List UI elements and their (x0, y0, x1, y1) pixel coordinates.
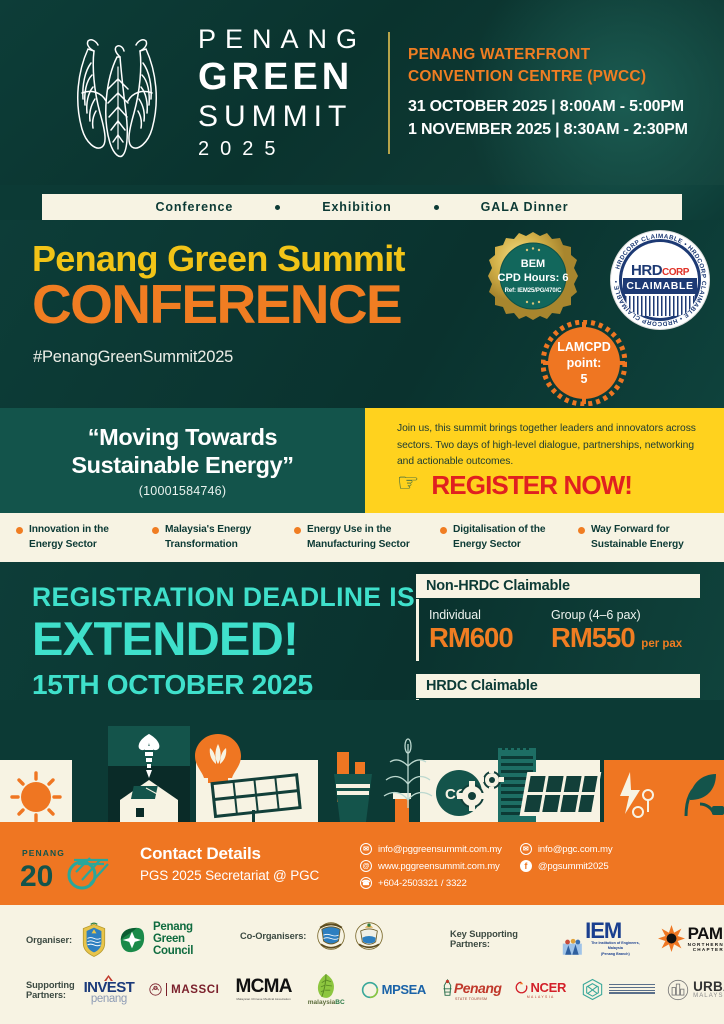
pricing-group: Group (4–6 pax) RM550 per pax (551, 608, 682, 661)
lamcpd-point-value: 5 (581, 371, 588, 387)
iem-sub-2: (Penang Branch) (585, 952, 645, 957)
venue-line-1: PENANG WATERFRONT (408, 44, 688, 66)
hrd-claimable-label: CLAIMABLE (623, 278, 697, 294)
contact-facebook-text: @pgsummit2025 (538, 861, 609, 872)
coorganisers-group: Co-Organisers: (240, 921, 384, 951)
theme-quote-line-2: Sustainable Energy” (71, 451, 293, 479)
topic-line-2: Energy Sector (29, 539, 97, 550)
contact-website[interactable]: @ www.pggreensummit.com.my (360, 860, 502, 872)
topic-line-1: Malaysia's Energy (165, 524, 251, 535)
penang-green-council-logo (118, 926, 146, 954)
topics-bar: Innovation in theEnergy Sector Malaysia'… (0, 513, 724, 562)
deadline-extended: EXTENDED! (32, 614, 415, 663)
hrd-wordmark: HRDCORP (610, 262, 710, 279)
contact-column-left: ✉ info@pggreensummit.com.my @ www.pggree… (360, 843, 502, 894)
contact-bar: PENANG 20 Contact Details PGS 2025 Secre… (0, 830, 724, 905)
mbpp-crest-logo (316, 921, 346, 951)
iem-sub-1: The Institution of Engineers, Malaysia (585, 941, 645, 952)
lamcpd-badge: LAMCPD point: 5 (541, 320, 627, 406)
massci-wordmark: MASSCI (171, 984, 219, 996)
sun-icon (12, 773, 60, 821)
pam-sub-2: CHAPTER (688, 947, 724, 952)
pricing-group-suffix: per pax (641, 638, 682, 650)
urbanice-logo: URBANICE MALAYSIA (667, 979, 724, 1001)
pricing-card-non-hrdc: Non-HRDC Claimable Individual RM600 Grou… (416, 574, 700, 661)
penang-state-crest-logo (80, 921, 108, 959)
event-poster: PENANG GREEN SUMMIT 2025 PENANG WATERFRO… (0, 0, 724, 1024)
hrd-stripes (625, 296, 695, 316)
ncer-logo: NCER MALAYSIA (515, 980, 566, 999)
program-item-exhibition: Exhibition (322, 200, 391, 214)
event-date-1: 31 OCTOBER 2025 | 8:00AM - 5:00PM (408, 95, 688, 118)
website-icon: @ (360, 860, 372, 872)
key-supporting-group: Key Supporting Partners: IEM The Institu… (450, 921, 724, 957)
urbanice-sub: MALAYSIA (693, 993, 724, 999)
hrd-text: HRD (631, 262, 662, 279)
iem-wordmark: IEM (585, 921, 645, 941)
pricing-individual-value: RM600 (429, 622, 551, 654)
brand-line-green: GREEN (198, 57, 366, 99)
supporting-partners-group: Supporting Partners: INVEST penang MASSC… (26, 973, 724, 1006)
brand-line-summit: SUMMIT (198, 99, 366, 136)
pricing-card-title: Non-HRDC Claimable (416, 574, 700, 598)
topic-line-1: Way Forward for (591, 524, 670, 535)
urbanice-wordmark: URBANICE (693, 980, 724, 994)
penang-2030-logo: PENANG 20 (20, 842, 130, 890)
brand-line-penang: PENANG (198, 23, 366, 57)
penang-tourism-sub: STATE TOURISM (455, 997, 487, 1001)
coorganisers-label: Co-Organisers: (240, 931, 306, 941)
contact-email-text: info@pgc.com.my (538, 844, 613, 855)
email-icon: ✉ (360, 843, 372, 855)
contact-columns: ✉ info@pggreensummit.com.my @ www.pggree… (360, 843, 613, 894)
topic-item: Way Forward forSustainable Energy (578, 523, 703, 553)
penang-tourism-wordmark: Penang (454, 980, 502, 996)
gbc-text: BC (335, 999, 344, 1006)
register-now-label: REGISTER NOW! (431, 470, 632, 501)
separator-dot (434, 205, 439, 210)
bem-cpd-hours: CPD Hours: 6 (498, 272, 569, 286)
partners-section: Organiser: (0, 905, 724, 1024)
pointing-hand-icon: ☞ (397, 471, 419, 496)
bullet-icon (152, 527, 159, 534)
separator-dot (275, 205, 280, 210)
pricing-group-value: RM550 (551, 622, 635, 653)
penang-2030-year-text: 20 (20, 860, 53, 890)
massci-logo: MASSCI (149, 983, 219, 996)
bem-label: BEM (521, 258, 545, 272)
brand-wordmark: PENANG GREEN SUMMIT 2025 (198, 23, 366, 161)
facebook-icon: f (520, 860, 532, 872)
bullet-icon (440, 527, 447, 534)
ncer-sub: MALAYSIA (527, 995, 555, 999)
mcma-sub: Malaysian Chinese Medical Association (236, 997, 290, 1001)
sustainability-icon-strip: CO2 (0, 700, 724, 830)
event-date-2: 1 NOVEMBER 2025 | 8:30AM - 2:30PM (408, 118, 688, 141)
contact-column-right: ✉ info@pgc.com.my f @pgsummit2025 (520, 843, 613, 894)
invest-wordmark: INVEST (84, 981, 135, 995)
topic-line-1: Digitalisation of the (453, 524, 545, 535)
topic-line-1: Energy Use in the (307, 524, 391, 535)
venue-block: PENANG WATERFRONT CONVENTION CENTRE (PWC… (408, 44, 688, 141)
register-now-button[interactable]: ☞ REGISTER NOW! (397, 470, 632, 501)
pgc-line-3: Council (153, 946, 193, 958)
pam-logo: PAM NORTHERN CHAPTER (658, 925, 724, 952)
contact-title: Contact Details (140, 844, 261, 864)
bullet-icon (294, 527, 301, 534)
venue-line-2: CONVENTION CENTRE (PWCC) (408, 66, 688, 88)
orange-baseline (0, 822, 724, 830)
contact-subtitle: PGS 2025 Secretariat @ PGC (140, 868, 319, 883)
hrdcorp-claimable-badge: HRDCORP CLAIMABLE • HRDCORP CLAIMABLE • … (610, 230, 710, 330)
registration-deadline: REGISTRATION DEADLINE IS EXTENDED! 15TH … (32, 582, 415, 701)
kdn-text-lines (609, 984, 655, 996)
supporting-partners-label: Supporting Partners: (26, 980, 75, 1000)
contact-website-text: www.pggreensummit.com.my (378, 861, 500, 872)
investpenang-logo: INVEST penang (84, 975, 135, 1005)
hrd-corp-text: CORP (662, 267, 689, 278)
contact-email-2[interactable]: ✉ info@pgc.com.my (520, 843, 613, 855)
topic-item: Innovation in theEnergy Sector (16, 523, 134, 553)
lamcpd-point-label: point: (567, 355, 602, 371)
email-icon: ✉ (520, 843, 532, 855)
program-item-gala-dinner: GALA Dinner (481, 200, 569, 214)
three-leaves-logo (58, 23, 176, 163)
topic-line-2: Energy Sector (453, 539, 521, 550)
contact-facebook[interactable]: f @pgsummit2025 (520, 860, 613, 872)
kdn-logo (580, 977, 655, 1002)
mpsea-logo: MPSEA (361, 981, 426, 999)
key-supporting-label: Key Supporting Partners: (450, 929, 553, 949)
mcma-logo: MCMA Malaysian Chinese Medical Associati… (235, 978, 291, 1000)
topic-item: Digitalisation of theEnergy Sector (440, 523, 560, 553)
register-blurb: Join us, this summit brings together lea… (397, 421, 708, 471)
organiser-label: Organiser: (26, 935, 72, 945)
bullet-icon (578, 527, 585, 534)
topic-item: Malaysia's EnergyTransformation (152, 523, 272, 553)
theme-quote-box: “Moving Towards Sustainable Energy” (100… (0, 408, 365, 513)
pam-wordmark: PAM (688, 926, 724, 942)
mcma-wordmark: MCMA (235, 978, 291, 996)
bem-reference: Ref: IEM25/PG/470/C (505, 288, 562, 294)
bem-cpd-badge: BEM CPD Hours: 6 Ref: IEM25/PG/470/C (487, 230, 579, 322)
contact-phone[interactable]: ☎ +604-2503321 / 3322 (360, 877, 502, 889)
phone-icon: ☎ (360, 877, 372, 889)
program-item-conference: Conference (155, 200, 233, 214)
deadline-date: 15TH OCTOBER 2025 (32, 668, 415, 702)
penang-green-council-wordmark: Penang Green Council (153, 922, 193, 957)
deadline-line-1: REGISTRATION DEADLINE IS (32, 582, 415, 612)
mbsp-crest-logo (354, 921, 384, 951)
penang-tourism-logo: Penang STATE TOURISM (441, 979, 502, 1001)
ncer-wordmark: NCER (530, 980, 566, 995)
event-subtitle: CONFERENCE (32, 277, 401, 332)
iem-logo: IEM The Institution of Engineers, Malays… (562, 921, 645, 957)
brand-line-year: 2025 (198, 136, 366, 162)
pricing-individual-label: Individual (429, 608, 551, 622)
lamcpd-label: LAMCPD (557, 339, 610, 355)
topic-item: Energy Use in theManufacturing Sector (294, 523, 429, 553)
event-hashtag: #PenangGreenSummit2025 (33, 348, 233, 367)
topic-line-1: Innovation in the (29, 524, 109, 535)
invest-sub: penang (91, 994, 127, 1004)
poster-header: PENANG GREEN SUMMIT 2025 PENANG WATERFRO… (0, 0, 724, 185)
header-divider (388, 32, 390, 154)
bullet-icon (16, 527, 23, 534)
theme-quote-line-1: “Moving Towards (88, 423, 277, 451)
topic-line-2: Transformation (165, 539, 238, 550)
malaysia-gbc-wordmark: malaysiaBC (308, 999, 345, 1006)
pricing-individual: Individual RM600 (429, 608, 551, 661)
pricing-card-title: HRDC Claimable (416, 674, 700, 698)
penang-2030-top-text: PENANG (22, 848, 65, 858)
program-strip: Conference Exhibition GALA Dinner (42, 194, 682, 220)
malaysia-gbc-logo: malaysiaBC (308, 973, 345, 1006)
contact-phone-text: +604-2503321 / 3322 (378, 878, 467, 889)
pricing-group-label: Group (4–6 pax) (551, 608, 682, 622)
organiser-group: Organiser: (26, 921, 193, 959)
register-box: Join us, this summit brings together lea… (365, 408, 724, 513)
theme-reference-id: (10001584746) (139, 484, 226, 498)
contact-email-1[interactable]: ✉ info@pggreensummit.com.my (360, 843, 502, 855)
mpsea-wordmark: MPSEA (382, 982, 426, 997)
topic-line-2: Manufacturing Sector (307, 539, 410, 550)
contact-email-text: info@pggreensummit.com.my (378, 844, 502, 855)
topic-line-2: Sustainable Energy (591, 539, 684, 550)
malaysia-text: malaysia (308, 999, 335, 1006)
